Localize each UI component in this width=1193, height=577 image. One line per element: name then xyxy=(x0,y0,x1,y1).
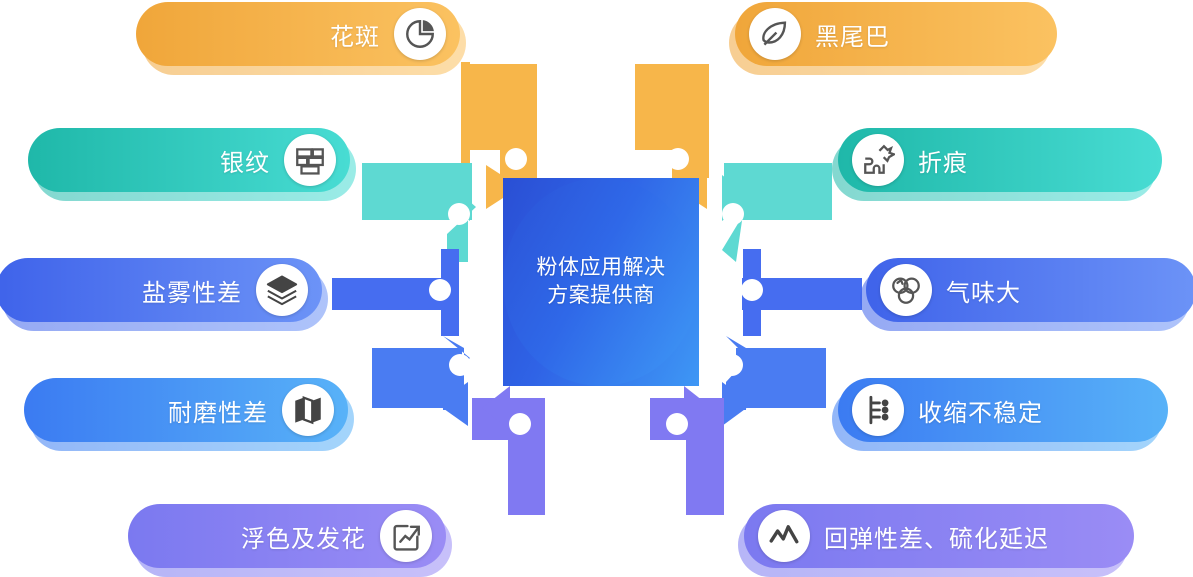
pill-yinwen[interactable]: 银纹 xyxy=(28,128,350,192)
pill-heiweiba[interactable]: 黑尾巴 xyxy=(735,2,1057,66)
pill-label-yanwu: 盐雾性差 xyxy=(142,273,242,308)
pill-huaban[interactable]: 花斑 xyxy=(136,2,460,66)
pill-qiwei[interactable]: 气味大 xyxy=(866,258,1193,322)
pill-label-fuse: 浮色及发花 xyxy=(241,519,366,554)
chart-arrow-icon xyxy=(380,510,432,562)
pill-shousuo[interactable]: 收缩不稳定 xyxy=(838,378,1168,442)
center-node-label: 粉体应用解决 方案提供商 xyxy=(537,254,666,309)
sitemap-icon xyxy=(852,384,904,436)
layers-icon xyxy=(256,264,308,316)
bricks-icon xyxy=(284,134,336,186)
diagram-canvas: 粉体应用解决 方案提供商 花斑黑尾巴银纹折痕盐雾性差气味大耐磨性差收缩不稳定浮色… xyxy=(0,0,1193,577)
connector-zhehen xyxy=(722,163,832,262)
connector-yanwu xyxy=(332,249,459,336)
pill-naimo[interactable]: 耐磨性差 xyxy=(24,378,348,442)
pill-label-huaban: 花斑 xyxy=(330,17,380,52)
recycle-icon xyxy=(880,264,932,316)
pill-label-zhehen: 折痕 xyxy=(918,143,968,178)
pill-label-qiwei: 气味大 xyxy=(946,273,1021,308)
pill-fuse[interactable]: 浮色及发花 xyxy=(128,504,446,568)
pill-huitan[interactable]: 回弹性差、硫化延迟 xyxy=(744,504,1134,568)
puzzle-icon xyxy=(852,134,904,186)
connector-yinwen xyxy=(362,163,476,262)
line-chart-icon xyxy=(758,510,810,562)
connector-qiwei xyxy=(741,249,862,336)
map-fold-icon xyxy=(282,384,334,436)
pill-label-huitan: 回弹性差、硫化延迟 xyxy=(824,519,1049,554)
connector-huitan xyxy=(650,386,724,515)
pie-chart-icon xyxy=(394,8,446,60)
center-node[interactable]: 粉体应用解决 方案提供商 xyxy=(503,178,699,386)
pill-label-shousuo: 收缩不稳定 xyxy=(918,393,1043,428)
connector-shousuo xyxy=(721,336,826,426)
pill-label-naimo: 耐磨性差 xyxy=(168,393,268,428)
connector-fuse xyxy=(472,386,545,515)
pill-yanwu[interactable]: 盐雾性差 xyxy=(0,258,322,322)
pill-label-yinwen: 银纹 xyxy=(220,143,270,178)
pill-zhehen[interactable]: 折痕 xyxy=(838,128,1162,192)
connector-naimo xyxy=(372,336,471,426)
center-node-circle: 粉体应用解决 方案提供商 xyxy=(503,178,699,386)
pill-label-heiweiba: 黑尾巴 xyxy=(815,17,890,52)
leaf-icon xyxy=(749,8,801,60)
